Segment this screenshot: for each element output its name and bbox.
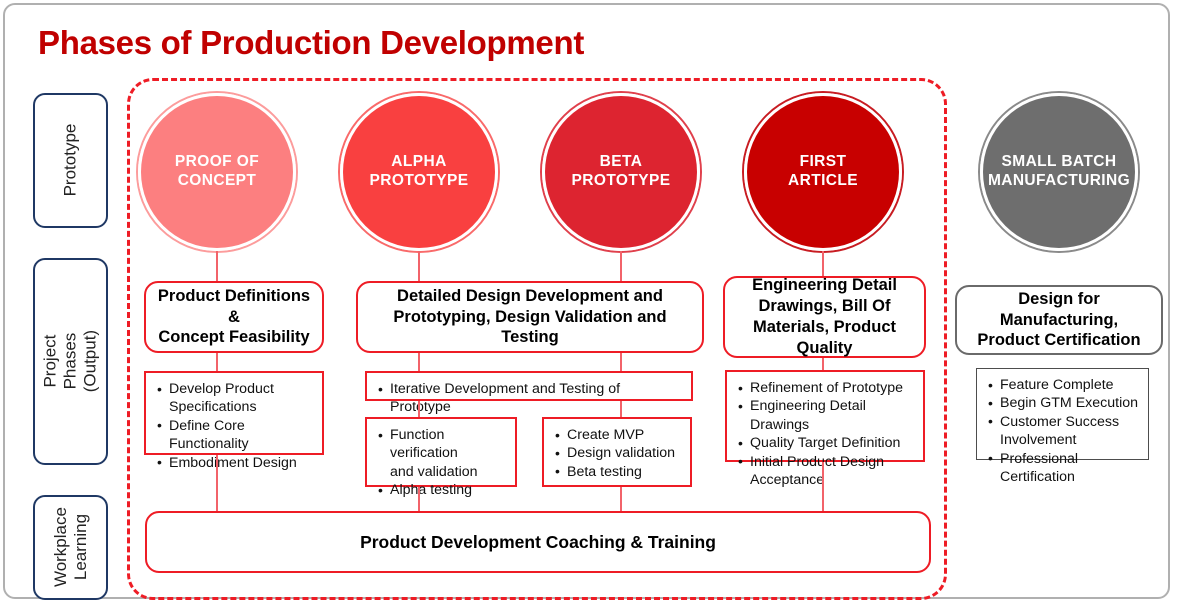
list-item: Feature Complete: [987, 376, 1140, 394]
phase-circle-label: PROOF OF CONCEPT: [141, 96, 293, 248]
list-item: Develop Product Specifications: [156, 380, 314, 417]
list-item: Professional Certification: [987, 450, 1140, 487]
connector-to-coaching-1: [216, 455, 218, 511]
sidebar-item-label: Project Phases (Output): [40, 326, 100, 397]
list-item: Alpha testing: [377, 481, 507, 499]
list-item: Quality Target Definition: [737, 434, 915, 452]
phase-circle-first-article[interactable]: FIRST ARTICLE: [742, 91, 904, 253]
diagram-frame: Phases of Production Development Prototy…: [3, 3, 1170, 599]
list-item: Create MVP: [554, 426, 682, 444]
phase-circle-small-batch-manufacturing[interactable]: SMALL BATCH MANUFACTURING: [978, 91, 1140, 253]
list-item: Beta testing: [554, 463, 682, 481]
output-box-small-batch[interactable]: Design for Manufacturing, Product Certif…: [955, 285, 1163, 355]
sidebar-item-project-phases[interactable]: Project Phases (Output): [33, 258, 108, 465]
connector-iterative-to-beta-sub: [620, 401, 622, 417]
phase-circle-label: ALPHA PROTOTYPE: [343, 96, 495, 248]
output-box-first-article[interactable]: Engineering Detail Drawings, Bill Of Mat…: [723, 276, 926, 358]
output-box-alpha-beta[interactable]: Detailed Design Development and Prototyp…: [356, 281, 704, 353]
list-item: Define Core Functionality: [156, 417, 314, 454]
page-title: Phases of Production Development: [38, 24, 584, 62]
list-item: Design validation: [554, 444, 682, 462]
phase-circle-alpha-prototype[interactable]: ALPHA PROTOTYPE: [338, 91, 500, 253]
list-item: Begin GTM Execution: [987, 394, 1140, 412]
connector-to-coaching-3: [620, 487, 622, 511]
phase-circle-label: FIRST ARTICLE: [747, 96, 899, 248]
bullet-list: Develop Product Specifications Define Co…: [156, 380, 314, 472]
connector-output-to-bullets-4: [822, 358, 824, 370]
list-item: Embodiment Design: [156, 454, 314, 472]
bullet-list: Refinement of Prototype Engineering Deta…: [737, 379, 915, 490]
sidebar-item-label: Prototype: [60, 124, 80, 197]
connector-circle-to-output-3: [620, 251, 622, 281]
phase-circle-label: BETA PROTOTYPE: [545, 96, 697, 248]
bullet-list: Create MVP Design validation Beta testin…: [554, 426, 682, 481]
bullet-list: Iterative Development and Testing of Pro…: [377, 380, 683, 417]
list-item: Iterative Development and Testing of Pro…: [377, 380, 683, 417]
connector-iterative-to-alpha-sub: [418, 401, 420, 417]
coaching-bar[interactable]: Product Development Coaching & Training: [145, 511, 931, 573]
coaching-bar-label: Product Development Coaching & Training: [360, 532, 716, 553]
phase-circle-label: SMALL BATCH MANUFACTURING: [983, 96, 1135, 248]
phase-circle-proof-of-concept[interactable]: PROOF OF CONCEPT: [136, 91, 298, 253]
sidebar-item-label: Workplace Learning: [50, 508, 90, 588]
bullet-box-first-article[interactable]: Refinement of Prototype Engineering Deta…: [725, 370, 925, 462]
phase-circle-beta-prototype[interactable]: BETA PROTOTYPE: [540, 91, 702, 253]
bullet-box-small-batch[interactable]: Feature Complete Begin GTM Execution Cus…: [976, 368, 1149, 460]
bullet-box-proof-of-concept[interactable]: Develop Product Specifications Define Co…: [144, 371, 324, 455]
bullet-list: Function verification and validation Alp…: [377, 426, 507, 500]
connector-output-to-iterative-right: [620, 353, 622, 371]
connector-to-coaching-2: [418, 487, 420, 511]
sidebar-item-workplace-learning[interactable]: Workplace Learning: [33, 495, 108, 600]
output-box-proof-of-concept[interactable]: Product Definitions & Concept Feasibilit…: [144, 281, 324, 353]
list-item: Function verification and validation: [377, 426, 507, 481]
bullet-box-alpha-prototype[interactable]: Function verification and validation Alp…: [365, 417, 517, 487]
connector-output-to-bullets-1: [216, 353, 218, 371]
bullet-box-beta-prototype[interactable]: Create MVP Design validation Beta testin…: [542, 417, 692, 487]
bullet-box-iterative-development[interactable]: Iterative Development and Testing of Pro…: [365, 371, 693, 401]
list-item: Customer Success Involvement: [987, 413, 1140, 450]
list-item: Engineering Detail Drawings: [737, 397, 915, 434]
connector-circle-to-output-1: [216, 251, 218, 281]
list-item: Initial Product Design Acceptance: [737, 453, 915, 490]
sidebar-item-prototype[interactable]: Prototype: [33, 93, 108, 228]
connector-to-coaching-4: [822, 462, 824, 511]
connector-circle-to-output-2: [418, 251, 420, 281]
connector-output-to-iterative-left: [418, 353, 420, 371]
bullet-list: Feature Complete Begin GTM Execution Cus…: [987, 376, 1140, 487]
list-item: Refinement of Prototype: [737, 379, 915, 397]
